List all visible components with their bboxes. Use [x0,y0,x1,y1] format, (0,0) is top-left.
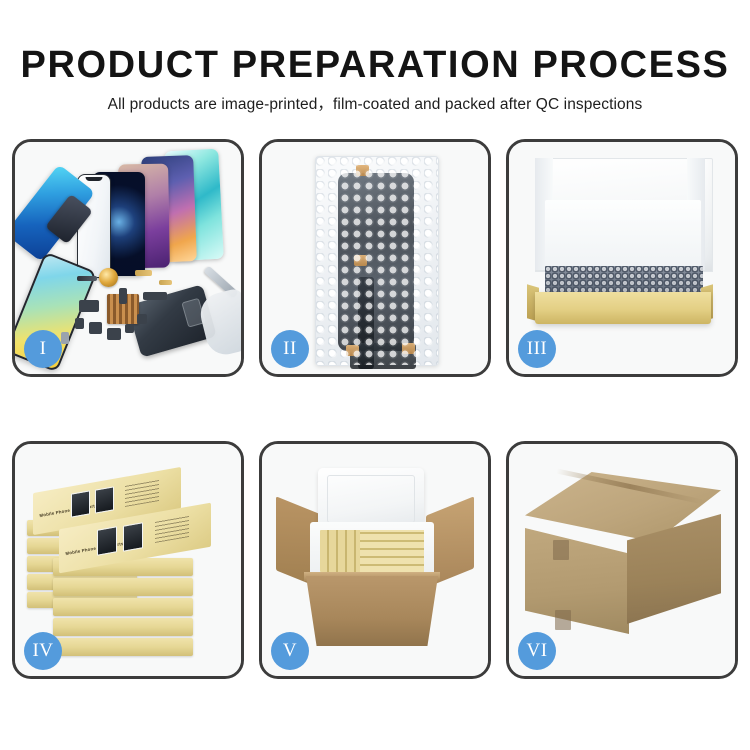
step-badge-6: VI [518,632,556,670]
process-step-panel-4: Mobile Phone Spare Parts Mobile Phone Sp… [12,441,244,679]
product-preparation-infographic: PRODUCT PREPARATION PROCESS All products… [0,0,750,750]
spare-part-icon [79,300,99,312]
spare-part-icon [119,288,127,304]
box-front-panel-icon [535,292,711,324]
phone-notch-icon [86,177,103,181]
tape-icon [354,255,367,266]
header: PRODUCT PREPARATION PROCESS All products… [0,0,750,115]
process-step-panel-1: I [12,139,244,377]
packed-screen-icon [338,173,414,351]
process-step-panel-3: III [506,139,738,377]
page-subtitle: All products are image-printed，film-coat… [0,88,750,115]
carton-handle-tab-icon [555,610,571,630]
box-print-thumbnail [95,486,114,513]
bubble-padding-icon [545,266,703,292]
box-print-thumbnail [97,526,117,556]
process-step-panel-5: V [259,441,491,679]
carton-body-icon [306,576,438,646]
stacked-box-side [53,578,193,596]
spare-part-icon [137,314,147,324]
tape-icon [402,343,415,354]
step-badge-4: IV [24,632,62,670]
box-print-thumbnail [123,522,143,552]
spare-part-icon [61,332,69,344]
box-stack-icon: Mobile Phone Spare Parts Mobile Phone Sp… [25,462,239,662]
process-step-panel-2: II [259,139,491,377]
tape-icon [356,165,369,176]
spare-part-icon [107,328,121,340]
packed-boxes-icon [360,530,424,572]
stacked-box-side [53,598,193,616]
box-print-thumbnail [71,490,90,517]
step-badge-3: III [518,330,556,368]
carton-handle-tab-icon [553,540,569,560]
spare-part-icon [125,324,134,333]
step-badge-2: II [271,330,309,368]
tape-icon [346,345,359,356]
spare-part-icon [159,280,172,285]
process-step-panel-6: VI [506,441,738,679]
step-badge-1: I [24,330,62,368]
page-title: PRODUCT PREPARATION PROCESS [0,0,750,88]
bubble-wrap-bag-icon [315,156,439,366]
stacked-box-side [53,638,193,656]
spare-part-icon [77,276,97,281]
spare-part-icon [143,292,167,300]
carton-front-face-icon [525,528,629,634]
foam-sheet-icon [545,200,701,266]
wireless-coil-icon [99,268,118,287]
stacked-box-side [53,618,193,636]
process-step-grid: I II [12,139,738,679]
spare-part-icon [75,318,84,329]
step-badge-5: V [271,632,309,670]
spare-part-icon [89,322,102,334]
spare-part-icon [135,270,152,276]
